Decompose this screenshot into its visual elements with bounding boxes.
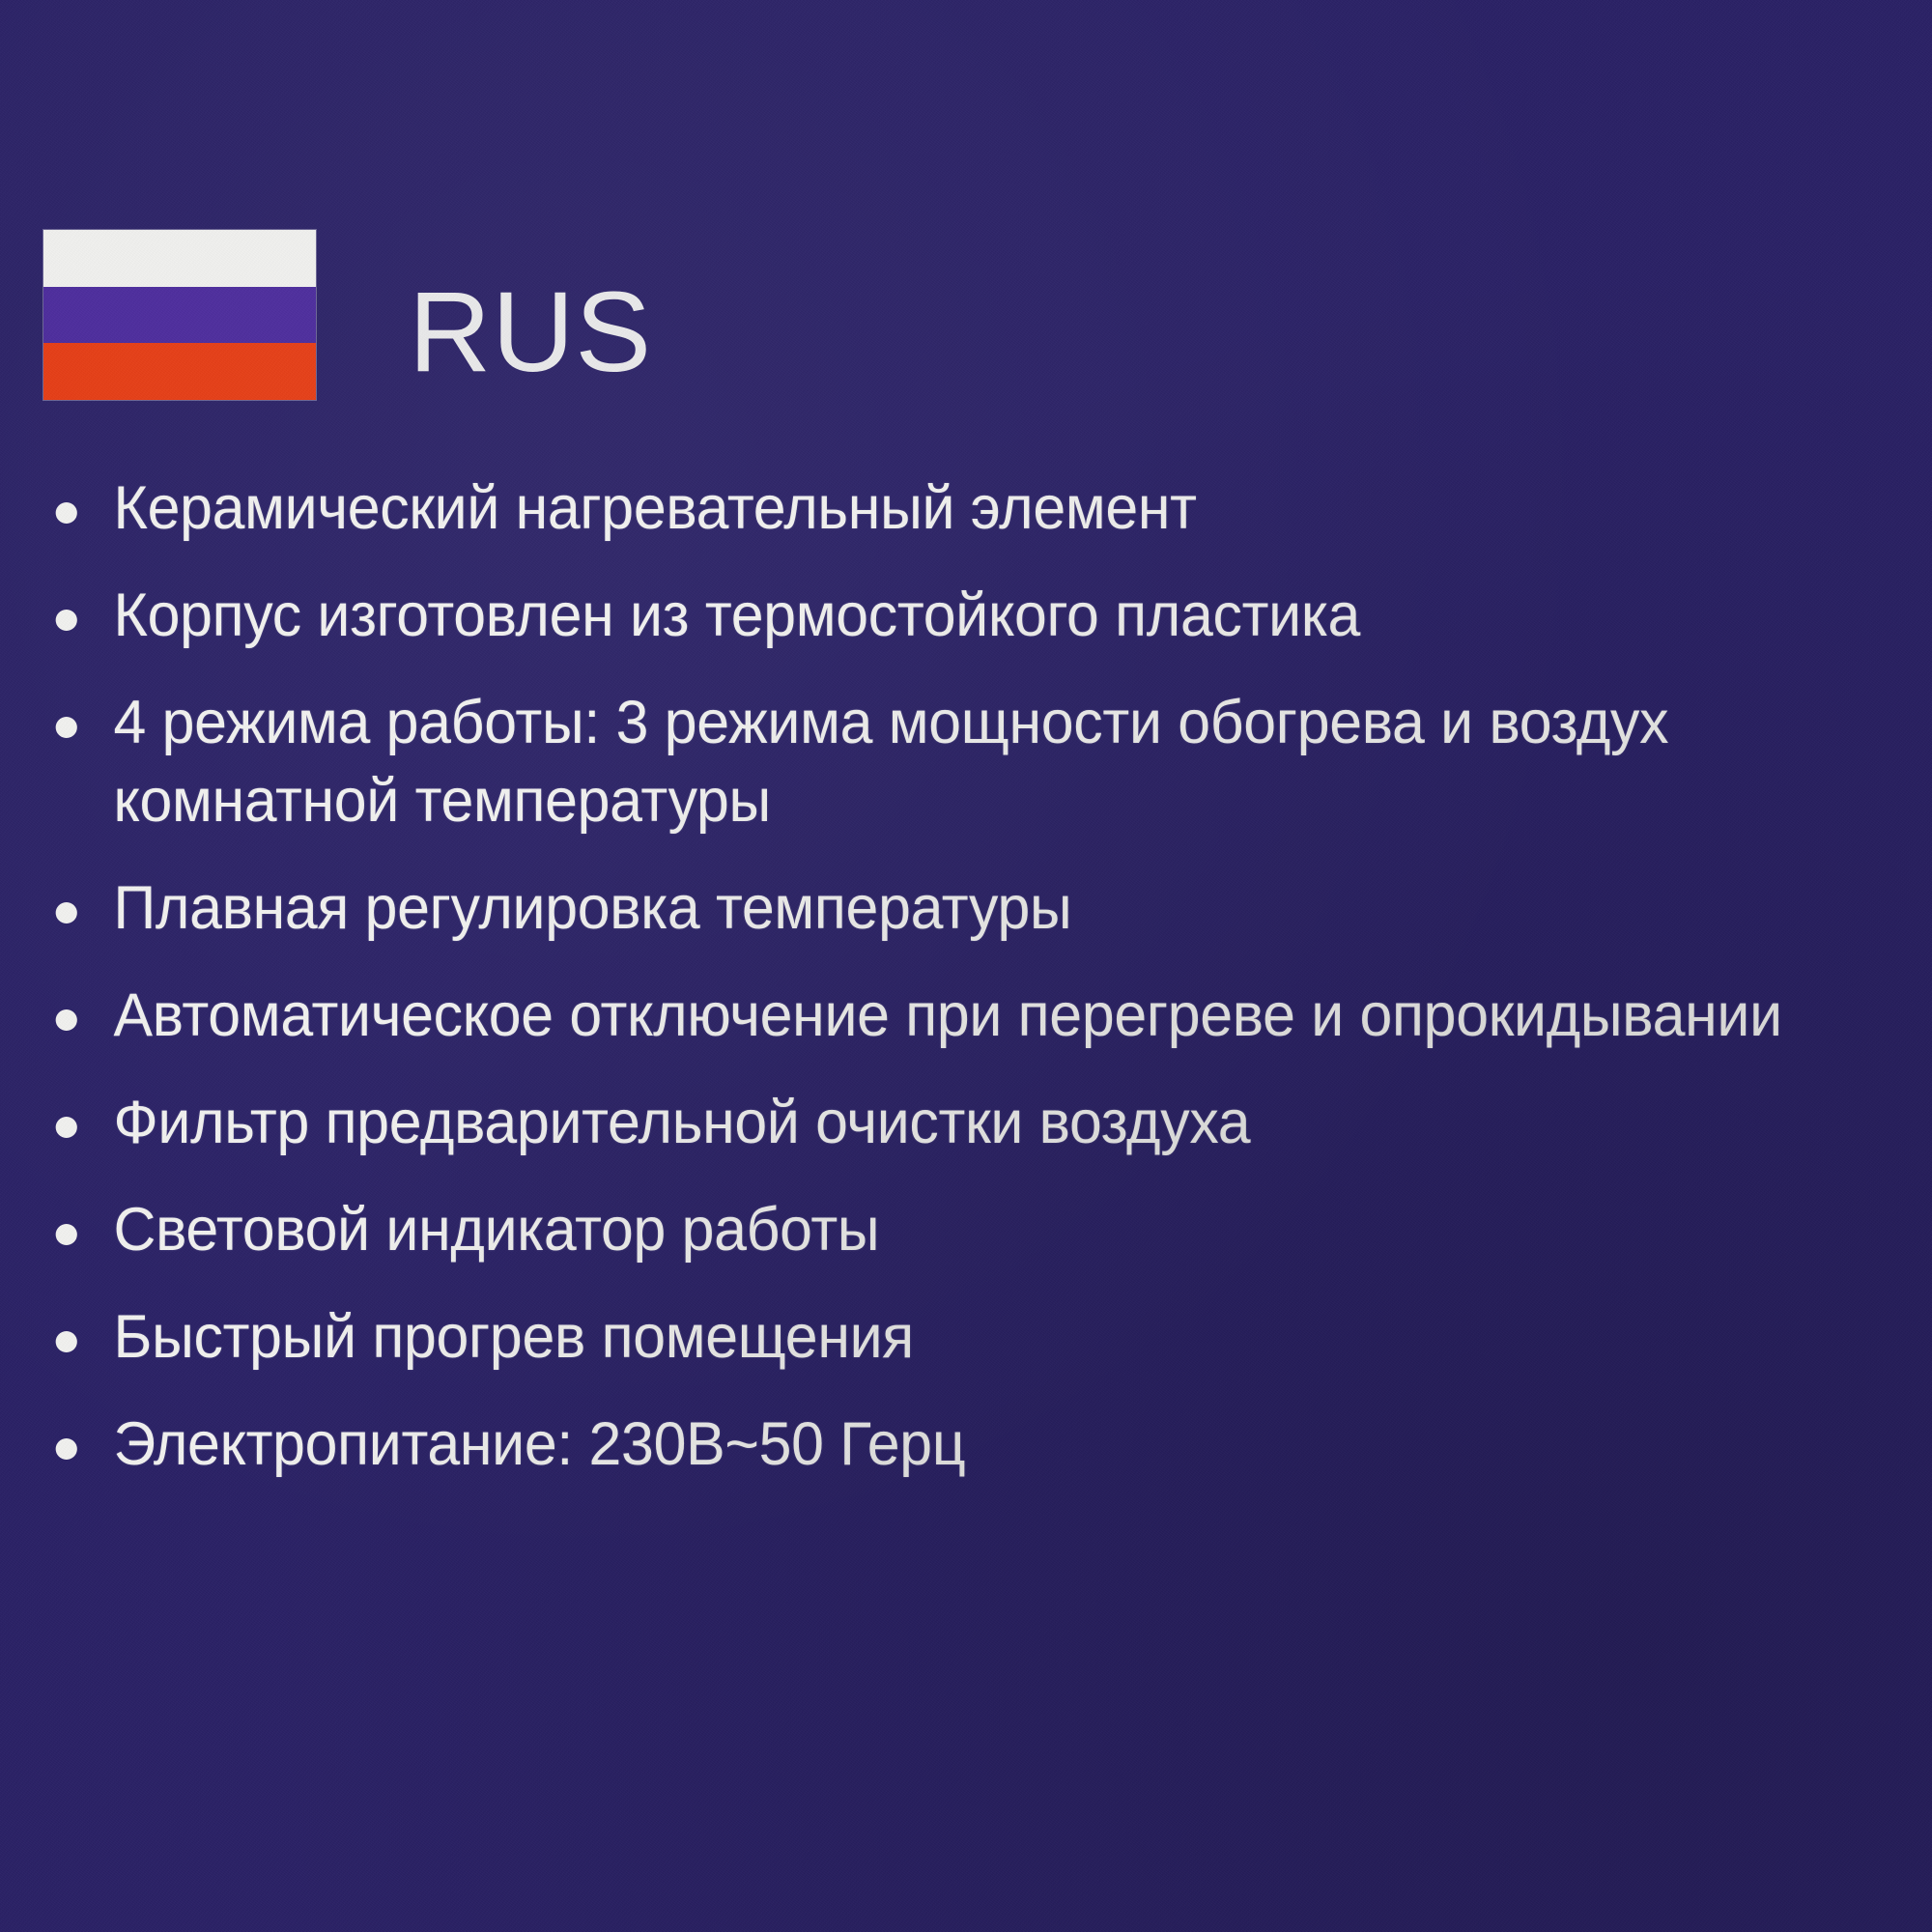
feature-text: Корпус изготовлен из термостойкого пласт…	[113, 577, 1817, 655]
bullet-point-icon	[56, 1331, 77, 1352]
feature-text: Фильтр предварительной очистки воздуха	[113, 1084, 1817, 1162]
feature-text: Автоматическое отключение при перегреве …	[113, 977, 1817, 1055]
feature-list-item: Световой индикатор работы	[46, 1191, 1818, 1269]
feature-text: Электропитание: 230В~50 Герц	[113, 1406, 1817, 1484]
bullet-point-icon	[56, 502, 77, 524]
feature-list-item: Керамический нагревательный элемент	[46, 469, 1818, 548]
feature-list-item: Фильтр предварительной очистки воздуха	[46, 1084, 1818, 1162]
feature-list-item: Плавная регулировка температуры	[46, 869, 1818, 948]
bullet-point-icon	[56, 902, 77, 923]
russian-flag-icon	[43, 230, 316, 400]
feature-list-item: 4 режима работы: 3 режима мощности обогр…	[46, 684, 1818, 840]
bullet-point-icon	[56, 1117, 77, 1138]
feature-text: Световой индикатор работы	[113, 1191, 1817, 1269]
language-header: RUS	[43, 230, 652, 400]
feature-text: Плавная регулировка температуры	[113, 869, 1817, 948]
feature-list: Керамический нагревательный элемент Корп…	[46, 469, 1882, 1513]
feature-text: 4 режима работы: 3 режима мощности обогр…	[113, 684, 1817, 840]
flag-band-blue	[43, 287, 316, 344]
bullet-point-icon	[56, 1009, 77, 1031]
bullet-point-icon	[56, 1438, 77, 1460]
language-code-label: RUS	[409, 275, 652, 389]
feature-text: Керамический нагревательный элемент	[113, 469, 1817, 548]
flag-band-red	[43, 343, 316, 400]
feature-list-item: Автоматическое отключение при перегреве …	[46, 977, 1818, 1055]
feature-list-item: Быстрый прогрев помещения	[46, 1298, 1818, 1377]
bullet-point-icon	[56, 1224, 77, 1245]
bullet-point-icon	[56, 717, 77, 738]
feature-list-item: Корпус изготовлен из термостойкого пласт…	[46, 577, 1818, 655]
product-spec-panel: RUS Керамический нагревательный элемент …	[0, 0, 1932, 1932]
bullet-point-icon	[56, 610, 77, 631]
feature-text: Быстрый прогрев помещения	[113, 1298, 1817, 1377]
feature-list-item: Электропитание: 230В~50 Герц	[46, 1406, 1818, 1484]
flag-band-white	[43, 230, 316, 287]
